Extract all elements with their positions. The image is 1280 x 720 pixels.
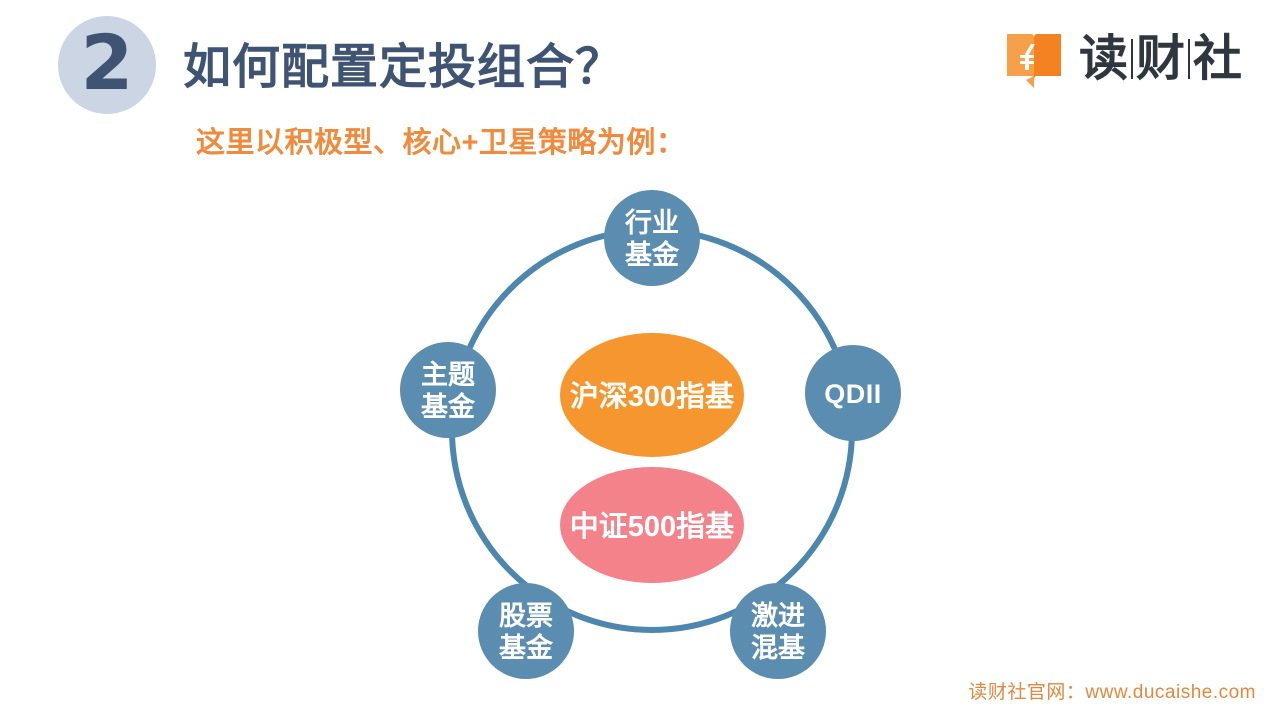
core-node-csi300-label: 沪深300指基 <box>570 380 735 413</box>
brand-logo: 读 财 社 <box>1001 26 1242 92</box>
satellite-node-aggressive-hybrid-fund[interactable] <box>730 583 826 679</box>
brand-logo-text: 读 财 社 <box>1079 35 1242 84</box>
step-number-badge: 2 <box>58 16 156 114</box>
satellite-node-equity-fund-label-line2: 基金 <box>499 632 554 663</box>
satellite-node-qdii-label: QDII <box>824 379 882 409</box>
satellite-node-equity-fund[interactable] <box>478 583 574 679</box>
logo-divider-1 <box>1131 39 1133 79</box>
satellite-node-equity-fund-label-line1: 股票 <box>499 601 553 631</box>
satellite-node-theme-fund-label-line2: 基金 <box>421 391 476 422</box>
logo-char-2: 财 <box>1136 35 1185 84</box>
satellite-node-aggressive-hybrid-fund-label-line2: 混基 <box>751 633 806 663</box>
satellite-node-industry-fund-label-line2: 基金 <box>625 239 680 270</box>
logo-divider-2 <box>1188 39 1190 79</box>
satellite-node-industry-fund[interactable] <box>604 190 700 286</box>
satellite-node-theme-fund[interactable] <box>400 342 496 438</box>
core-satellite-diagram: 沪深300指基 中证500指基 行业 基金 QDII 激进 混基 股票 基金 主… <box>390 175 920 695</box>
core-node-csi500-label: 中证500指基 <box>570 510 735 543</box>
book-yen-icon <box>1001 26 1067 92</box>
slide-header: 2 如何配置定投组合？ 这里以积极型、核心+卫星策略为例： 读 财 社 <box>0 0 1280 170</box>
page-subtitle: 这里以积极型、核心+卫星策略为例： <box>196 119 685 161</box>
page-title: 如何配置定投组合？ <box>183 27 624 97</box>
satellite-node-theme-fund-label-line1: 主题 <box>421 360 475 390</box>
satellite-node-industry-fund-label-line1: 行业 <box>624 207 679 238</box>
satellite-node-aggressive-hybrid-fund-label-line1: 激进 <box>751 600 805 631</box>
logo-char-3: 社 <box>1193 35 1242 84</box>
step-number-text: 2 <box>81 25 134 101</box>
footer-website-url: 读财社官网：www.ducaishe.com <box>968 677 1256 704</box>
logo-char-1: 读 <box>1079 35 1128 84</box>
